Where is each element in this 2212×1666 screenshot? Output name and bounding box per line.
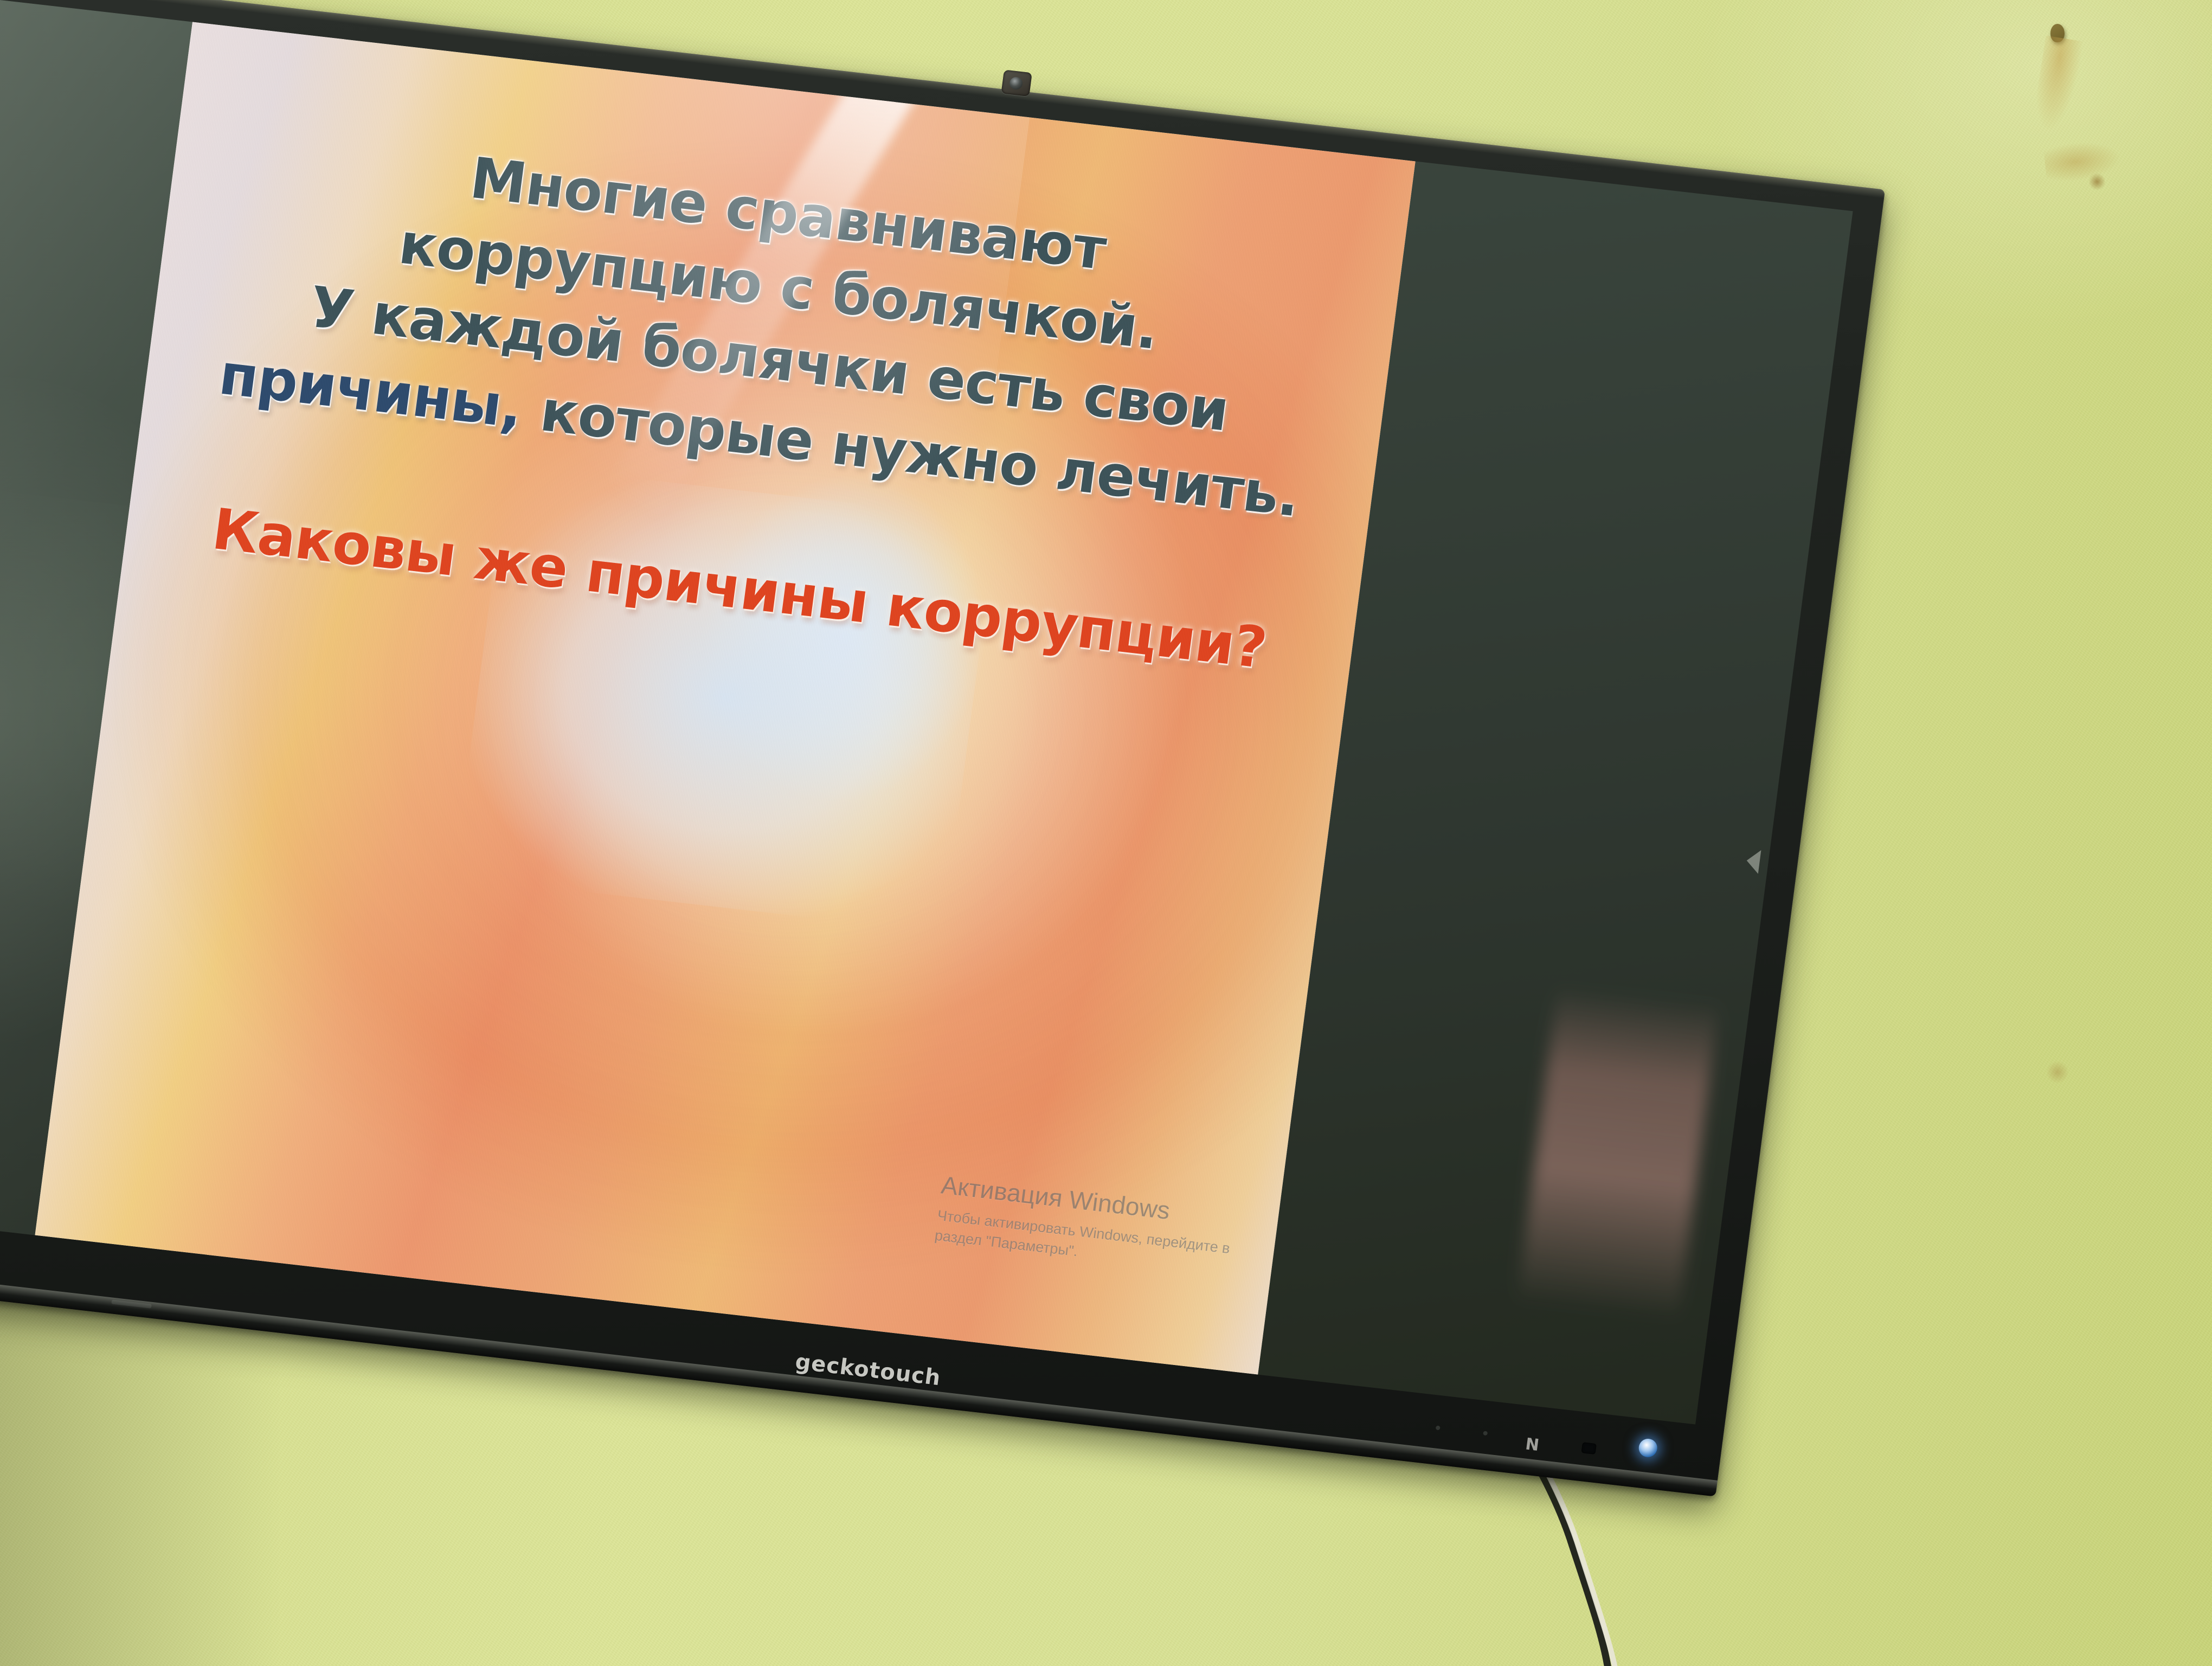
tv-screen[interactable]: Многие сравнивают коррупцию с болячкой. … <box>0 0 1853 1425</box>
webcam-icon <box>1001 69 1032 97</box>
screen-edge-glow <box>1514 985 1719 1337</box>
wall-stain <box>2047 1060 2068 1084</box>
photo-scene: Многие сравнивают коррупцию с болячкой. … <box>0 0 2212 1666</box>
screen-side-marker-icon <box>1745 849 1761 874</box>
wall-stain <box>2043 138 2123 184</box>
wall-stain <box>2089 172 2105 191</box>
presentation-slide[interactable]: Многие сравнивают коррупцию с болячкой. … <box>35 22 1415 1374</box>
ir-sensor-icon <box>1581 1442 1597 1454</box>
wall-mounted-display: Многие сравнивают коррупцию с болячкой. … <box>0 0 1885 1497</box>
nfc-icon: N <box>1525 1434 1543 1454</box>
